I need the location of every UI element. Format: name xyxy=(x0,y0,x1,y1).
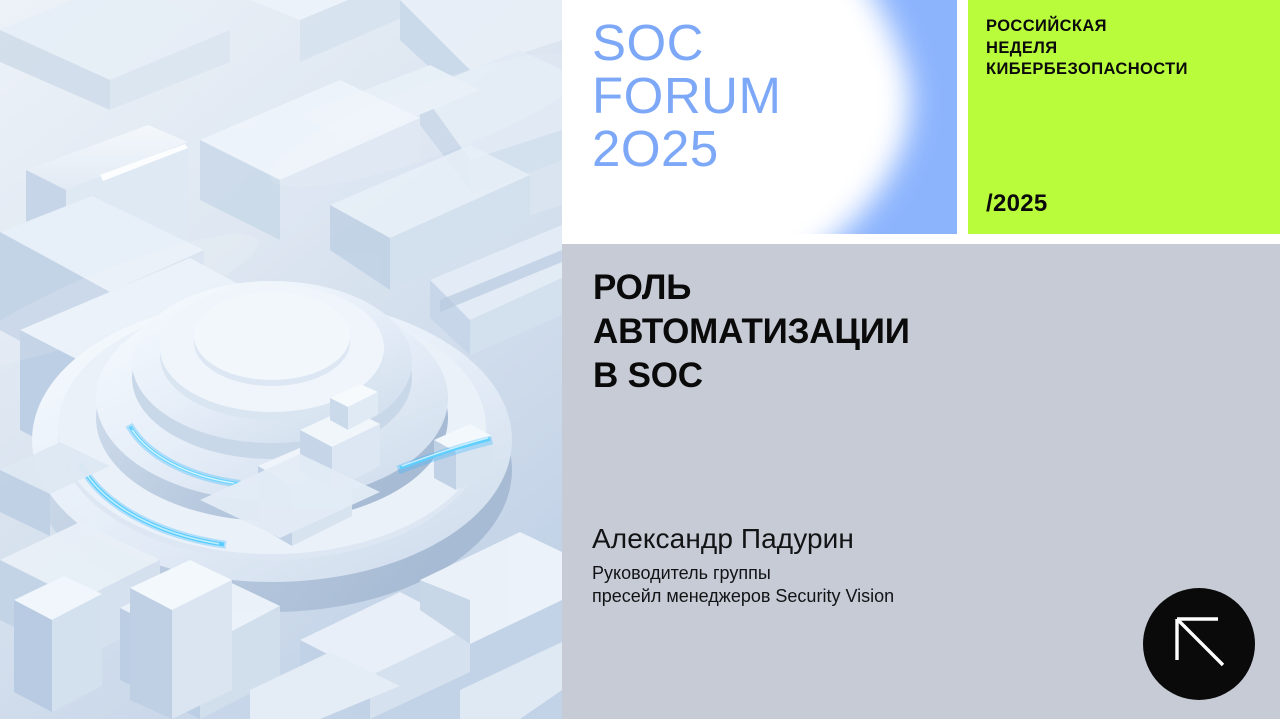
hero-image-isometric-render xyxy=(0,0,562,719)
isometric-scene-graphic xyxy=(0,0,562,719)
soc-forum-wordmark: SOC FORUM 2O25 xyxy=(592,16,781,175)
year-label: /2025 xyxy=(986,190,1048,218)
arrow-up-left-icon xyxy=(1143,588,1255,700)
speaker-role: Руководитель группы пресейл менеджеров S… xyxy=(592,562,894,608)
arrow-badge xyxy=(1143,588,1255,700)
presentation-slide: SOC FORUM 2O25 РОССИЙСКАЯ НЕДЕЛЯ КИБЕРБЕ… xyxy=(0,0,1280,719)
speaker-name: Александр Падурин xyxy=(592,523,854,555)
soc-forum-brand-panel: SOC FORUM 2O25 xyxy=(562,0,957,234)
page-title: РОЛЬ АВТОМАТИЗАЦИИ В SOC xyxy=(593,266,910,398)
cybersecurity-week-title: РОССИЙСКАЯ НЕДЕЛЯ КИБЕРБЕЗОПАСНОСТИ xyxy=(986,16,1188,81)
cybersecurity-week-panel: РОССИЙСКАЯ НЕДЕЛЯ КИБЕРБЕЗОПАСНОСТИ /202… xyxy=(968,0,1280,234)
slide-content-panel: РОЛЬ АВТОМАТИЗАЦИИ В SOC Александр Падур… xyxy=(562,244,1280,719)
